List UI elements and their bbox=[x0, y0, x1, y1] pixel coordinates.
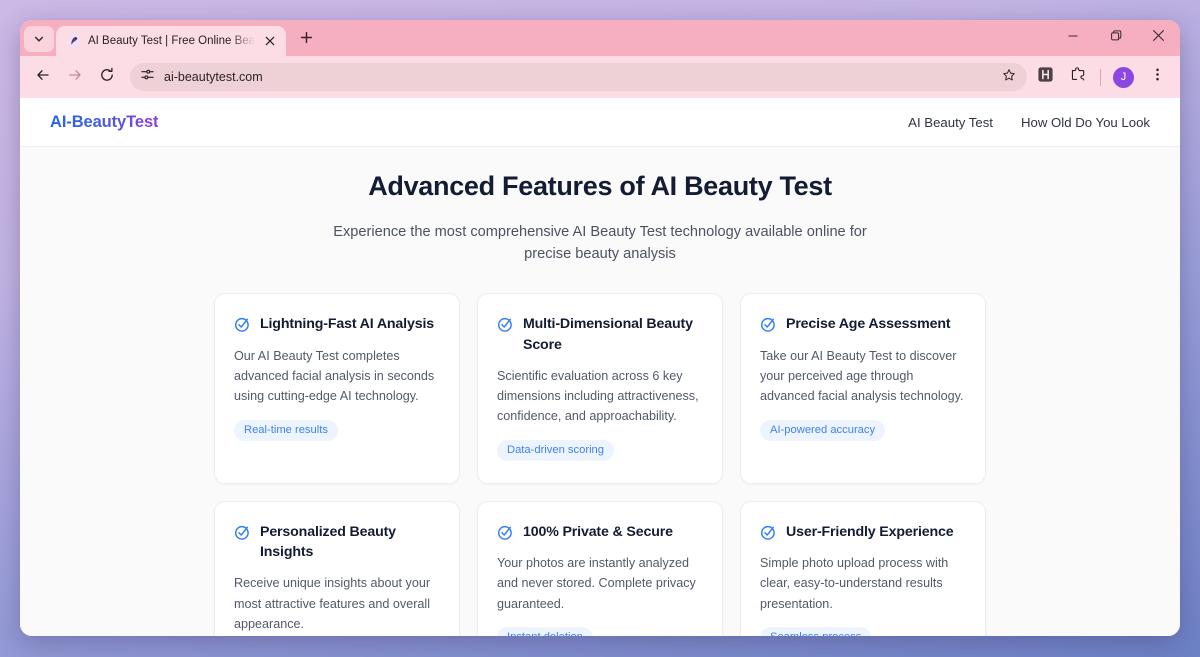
feature-card-header: Personalized Beauty Insights bbox=[234, 522, 440, 562]
nav-link-ai-beauty-test[interactable]: AI Beauty Test bbox=[908, 115, 993, 130]
browser-tab[interactable]: AI Beauty Test | Free Online Bea bbox=[56, 26, 286, 56]
feature-card-badge[interactable]: AI-powered accuracy bbox=[760, 420, 885, 441]
features-grid: Lightning-Fast AI Analysis Our AI Beauty… bbox=[214, 293, 986, 636]
nav-link-how-old-do-you-look[interactable]: How Old Do You Look bbox=[1021, 115, 1150, 130]
feature-card-description: Scientific evaluation across 6 key dimen… bbox=[497, 366, 703, 427]
browser-menu-button[interactable] bbox=[1143, 63, 1172, 92]
window-minimize-button[interactable] bbox=[1051, 20, 1094, 56]
feature-card-badge[interactable]: Instant deletion bbox=[497, 627, 593, 636]
tab-search-button[interactable] bbox=[24, 26, 54, 52]
check-circle-icon bbox=[497, 524, 514, 541]
feature-card-title: User-Friendly Experience bbox=[786, 522, 954, 542]
check-circle-icon bbox=[234, 316, 251, 333]
forward-button[interactable] bbox=[60, 62, 90, 92]
feature-card-title: 100% Private & Secure bbox=[523, 522, 673, 542]
window-close-button[interactable] bbox=[1137, 20, 1180, 56]
browser-toolbar: ai-beautytest.com bbox=[20, 56, 1180, 98]
feature-card: User-Friendly Experience Simple photo up… bbox=[740, 501, 986, 636]
site-header: AI-BeautyTest AI Beauty Test How Old Do … bbox=[20, 98, 1180, 147]
extensions-button[interactable] bbox=[1064, 63, 1093, 92]
feature-card: Precise Age Assessment Take our AI Beaut… bbox=[740, 293, 986, 483]
feature-card-description: Simple photo upload process with clear, … bbox=[760, 553, 966, 614]
hero-section: Advanced Features of AI Beauty Test Expe… bbox=[20, 147, 1180, 271]
toolbar-divider bbox=[1100, 69, 1101, 86]
plus-icon bbox=[300, 31, 313, 49]
three-dot-menu-icon bbox=[1150, 67, 1165, 87]
feature-card-header: 100% Private & Secure bbox=[497, 522, 703, 542]
check-circle-icon bbox=[760, 524, 777, 541]
page-viewport: AI-BeautyTest AI Beauty Test How Old Do … bbox=[20, 98, 1180, 636]
reload-button[interactable] bbox=[92, 62, 122, 92]
feature-card-title: Lightning-Fast AI Analysis bbox=[260, 314, 434, 334]
window-maximize-button[interactable] bbox=[1094, 20, 1137, 56]
chevron-down-icon bbox=[33, 33, 45, 45]
forward-arrow-icon bbox=[67, 67, 83, 88]
feature-card: 100% Private & Secure Your photos are in… bbox=[477, 501, 723, 636]
site-logo[interactable]: AI-BeautyTest bbox=[50, 113, 158, 132]
back-button[interactable] bbox=[28, 62, 58, 92]
tab-strip: AI Beauty Test | Free Online Bea bbox=[20, 20, 1180, 56]
feature-card-header: Precise Age Assessment bbox=[760, 314, 966, 334]
feature-card-title: Precise Age Assessment bbox=[786, 314, 950, 334]
feature-card: Personalized Beauty Insights Receive uni… bbox=[214, 501, 460, 636]
maximize-icon bbox=[1110, 29, 1122, 47]
check-circle-icon bbox=[760, 316, 777, 333]
close-icon bbox=[1152, 29, 1165, 47]
back-arrow-icon bbox=[35, 67, 51, 88]
site-navigation: AI Beauty Test How Old Do You Look bbox=[908, 115, 1150, 130]
url-text[interactable]: ai-beautytest.com bbox=[164, 70, 988, 84]
star-icon bbox=[1002, 68, 1016, 87]
feature-card-title: Multi-Dimensional Beauty Score bbox=[523, 314, 703, 354]
feature-card-badge[interactable]: Real-time results bbox=[234, 420, 338, 441]
puzzle-extensions-icon bbox=[1070, 66, 1087, 88]
reload-icon bbox=[99, 67, 115, 88]
browser-window: AI Beauty Test | Free Online Bea bbox=[20, 20, 1180, 636]
feature-card-description: Take our AI Beauty Test to discover your… bbox=[760, 346, 966, 407]
h-extension-icon bbox=[1037, 66, 1054, 88]
feature-card-description: Receive unique insights about your most … bbox=[234, 573, 440, 634]
feature-card-header: User-Friendly Experience bbox=[760, 522, 966, 542]
feature-card-description: Our AI Beauty Test completes advanced fa… bbox=[234, 346, 440, 407]
h-extension-button[interactable] bbox=[1031, 63, 1060, 92]
tab-title: AI Beauty Test | Free Online Bea bbox=[88, 35, 255, 47]
minimize-icon bbox=[1067, 29, 1079, 47]
window-controls bbox=[1051, 20, 1180, 56]
feature-card-description: Your photos are instantly analyzed and n… bbox=[497, 553, 703, 614]
check-circle-icon bbox=[497, 316, 514, 333]
address-bar[interactable]: ai-beautytest.com bbox=[130, 63, 1027, 91]
page-title: Advanced Features of AI Beauty Test bbox=[20, 171, 1180, 202]
check-circle-icon bbox=[234, 524, 251, 541]
feature-card-header: Multi-Dimensional Beauty Score bbox=[497, 314, 703, 354]
profile-avatar[interactable]: J bbox=[1113, 67, 1134, 88]
bookmark-star-button[interactable] bbox=[997, 65, 1021, 89]
feature-card-badge[interactable]: Data-driven scoring bbox=[497, 440, 614, 461]
feature-card: Lightning-Fast AI Analysis Our AI Beauty… bbox=[214, 293, 460, 483]
feature-card: Multi-Dimensional Beauty Score Scientifi… bbox=[477, 293, 723, 483]
page-subtitle: Experience the most comprehensive AI Bea… bbox=[320, 221, 880, 265]
feature-card-badge[interactable]: Seamless process bbox=[760, 627, 871, 636]
tab-close-icon[interactable] bbox=[262, 33, 278, 49]
site-favicon-icon bbox=[66, 34, 81, 49]
site-settings-icon[interactable] bbox=[140, 67, 155, 87]
feature-card-title: Personalized Beauty Insights bbox=[260, 522, 440, 562]
new-tab-button[interactable] bbox=[293, 27, 319, 53]
feature-card-header: Lightning-Fast AI Analysis bbox=[234, 314, 440, 334]
